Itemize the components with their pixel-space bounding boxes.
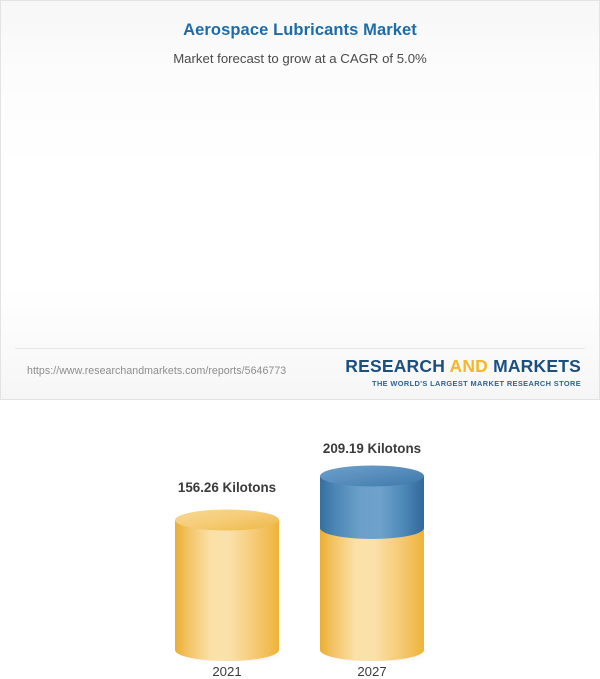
logo-tagline: THE WORLD'S LARGEST MARKET RESEARCH STOR… — [345, 376, 581, 387]
logo-word-and: AND — [445, 356, 493, 376]
logo-wordmark: RESEARCH AND MARKETS — [345, 358, 581, 376]
logo-word-markets: MARKETS — [493, 356, 581, 376]
bar-cylinder-2021[interactable] — [174, 509, 280, 666]
footer-divider — [15, 348, 585, 349]
category-label-2021: 2021 — [174, 664, 280, 679]
logo-word-research: RESEARCH — [345, 356, 445, 376]
report-url[interactable]: https://www.researchandmarkets.com/repor… — [27, 365, 286, 377]
bar-cylinder-2027[interactable] — [319, 465, 425, 666]
value-label-2027: 209.19 Kilotons — [277, 441, 467, 456]
brand-logo[interactable]: RESEARCH AND MARKETS THE WORLD'S LARGEST… — [345, 358, 581, 387]
value-label-2021: 156.26 Kilotons — [132, 480, 322, 495]
chart-plot-area: 156.26 Kilotons — [1, 1, 599, 346]
infographic-card: Aerospace Lubricants Market Market forec… — [0, 0, 600, 400]
category-label-2027: 2027 — [319, 664, 425, 679]
